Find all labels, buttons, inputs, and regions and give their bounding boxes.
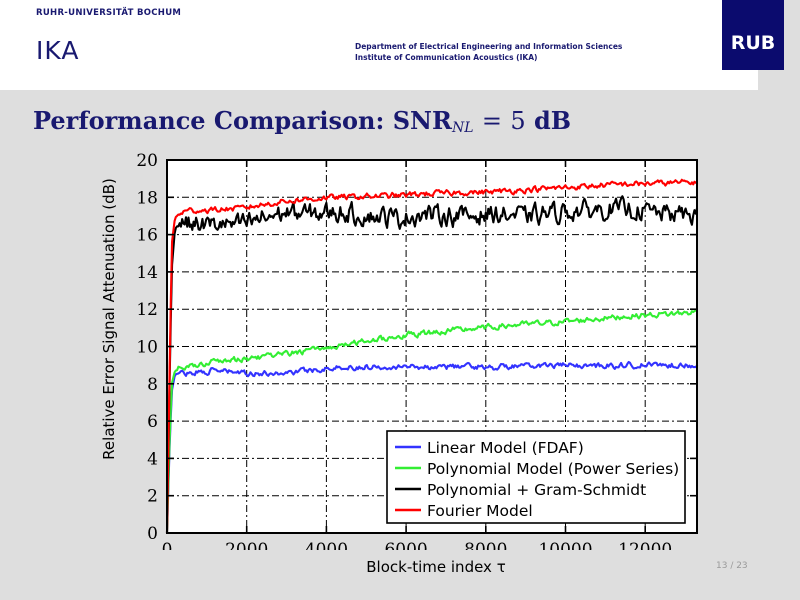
y-tick-label: 0 [147,524,158,544]
page-number: 13 / 23 [716,561,748,571]
page-title: Performance Comparison: SNRNL = 5 dB [33,106,571,136]
x-tick-label: 4000 [305,540,348,550]
y-axis-label: Relative Error Signal Attenuation (dB) [100,154,118,484]
rub-logo-text: RUB [722,32,784,54]
university-name: RUHR-UNIVERSITÄT BOCHUM [36,8,181,18]
legend-label: Polynomial Model (Power Series) [427,460,679,478]
rub-logo: RUB [722,0,784,70]
y-tick-label: 10 [136,338,158,358]
x-tick-label: 12000 [618,540,672,550]
title-symbol: SNRNL [393,106,474,135]
title-equals: = [482,107,502,135]
y-tick-label: 20 [136,151,158,171]
x-tick-label: 6000 [384,540,427,550]
institute-abbreviation: IKA [36,36,79,65]
legend-label: Fourier Model [427,502,533,520]
department-text: Department of Electrical Engineering and… [355,42,622,64]
title-subscript: NL [452,120,474,136]
x-axis-label: Block-time index τ [166,558,706,576]
plot-canvas: 0246810121416182002000400060008000100001… [60,150,760,550]
title-unit: dB [534,106,571,135]
y-tick-label: 4 [147,449,158,469]
y-tick-label: 16 [136,226,158,246]
chart-figure: Relative Error Signal Attenuation (dB) B… [60,150,760,590]
y-tick-label: 2 [147,487,158,507]
department-line-2: Institute of Communication Acoustics (IK… [355,53,622,64]
x-tick-label: 2000 [225,540,268,550]
title-value: 5 [510,107,525,135]
y-tick-label: 18 [136,188,158,208]
department-line-1: Department of Electrical Engineering and… [355,42,622,53]
x-tick-label: 0 [162,540,173,550]
legend-label: Linear Model (FDAF) [427,439,584,457]
x-tick-label: 10000 [538,540,592,550]
title-symbol-text: SNR [393,106,452,135]
y-tick-label: 6 [147,412,158,432]
y-tick-label: 12 [136,300,158,320]
y-tick-label: 14 [136,263,158,283]
legend-label: Polynomial + Gram-Schmidt [427,481,646,499]
slide: RUHR-UNIVERSITÄT BOCHUM IKA Department o… [0,0,800,600]
y-tick-label: 8 [147,375,158,395]
x-tick-label: 8000 [464,540,507,550]
title-main-text: Performance Comparison: [33,106,384,135]
